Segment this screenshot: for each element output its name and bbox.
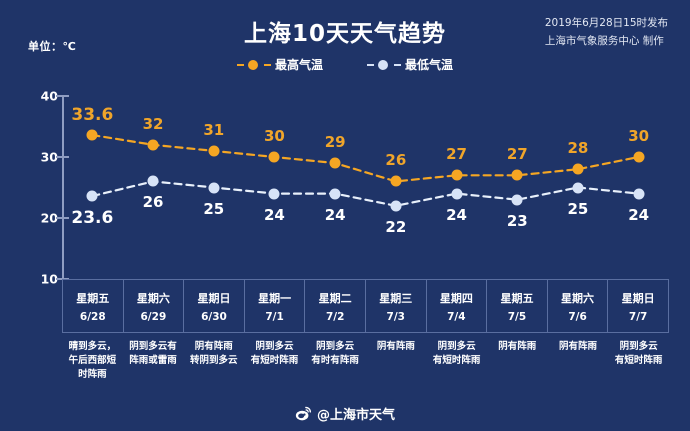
weekday-label: 星期三	[379, 290, 412, 306]
low-temp-value: 24	[446, 206, 467, 224]
weather-description: 阴有阵雨	[366, 340, 427, 382]
low-temp-point	[451, 188, 462, 199]
weather-description-line: 阴有阵雨	[185, 340, 242, 354]
weather-description: 晴到多云，午后西部短时阵雨	[62, 340, 123, 382]
chart-legend: 最高气温 最低气温	[0, 56, 690, 73]
date-label: 7/7	[629, 311, 647, 323]
low-temp-point	[572, 182, 583, 193]
weather-description-line: 阴有阵雨	[550, 340, 607, 354]
dot-marker-icon	[237, 59, 271, 71]
low-temp-value: 25	[568, 200, 589, 218]
weather-description-line: 阴到多云有	[125, 340, 182, 354]
weekday-label: 星期二	[319, 290, 352, 306]
date-label: 7/1	[265, 311, 283, 323]
day-table: 星期五6/28星期六6/29星期日6/30星期一7/1星期二7/2星期三7/3星…	[62, 279, 669, 333]
weather-description-line: 转阴到多云	[185, 354, 242, 368]
weather-description: 阴有阵雨	[548, 340, 609, 382]
date-label: 7/3	[387, 311, 405, 323]
weather-description-line: 有短时阵雨	[246, 354, 303, 368]
high-temp-point	[148, 139, 159, 150]
day-column[interactable]: 星期六6/29	[124, 279, 185, 333]
low-temp-point	[148, 176, 159, 187]
day-column[interactable]: 星期三7/3	[366, 279, 427, 333]
date-label: 6/30	[201, 311, 227, 323]
y-axis-tick-mark	[56, 217, 69, 219]
low-temp-point	[208, 182, 219, 193]
legend-item-high: 最高气温	[237, 56, 323, 73]
high-temp-value: 26	[385, 151, 406, 169]
weather-trend-chart: 单位：℃ 上海10天天气趋势 2019年6月28日15时发布 上海市气象服务中心…	[0, 0, 690, 431]
weather-description-line: 有时有阵雨	[307, 354, 364, 368]
weather-description-line: 阴到多云	[610, 340, 667, 354]
low-temp-point	[87, 191, 98, 202]
high-temp-value: 30	[264, 127, 285, 145]
publish-time: 2019年6月28日15时发布	[545, 14, 668, 32]
low-temp-point	[633, 188, 644, 199]
day-column[interactable]: 星期五7/5	[487, 279, 548, 333]
high-temp-point	[269, 152, 280, 163]
publisher-name: 上海市气象服务中心 制作	[545, 32, 668, 50]
day-column[interactable]: 星期二7/2	[305, 279, 366, 333]
high-temp-point	[208, 145, 219, 156]
weather-description-line: 晴到多云，	[64, 340, 121, 354]
weather-description: 阴有阵雨转阴到多云	[183, 340, 244, 382]
weather-description: 阴到多云有阵雨或雷雨	[123, 340, 184, 382]
weekday-label: 星期六	[137, 290, 170, 306]
weather-description-line: 阵雨或雷雨	[125, 354, 182, 368]
low-temp-line	[92, 181, 638, 205]
low-temp-point	[512, 194, 523, 205]
date-label: 7/6	[568, 311, 586, 323]
weekday-label: 星期一	[258, 290, 291, 306]
weekday-label: 星期日	[197, 290, 230, 306]
low-temp-point	[330, 188, 341, 199]
low-temp-value: 24	[264, 206, 285, 224]
low-temp-point	[390, 200, 401, 211]
weather-description-line: 有短时阵雨	[428, 354, 485, 368]
day-column[interactable]: 星期六7/6	[548, 279, 609, 333]
y-axis-tick-label: 20	[26, 211, 58, 226]
low-temp-value: 22	[385, 218, 406, 236]
high-temp-point	[512, 170, 523, 181]
y-axis-line	[62, 96, 64, 280]
weather-description: 阴到多云有短时阵雨	[426, 340, 487, 382]
date-label: 6/29	[141, 311, 167, 323]
publish-info: 2019年6月28日15时发布 上海市气象服务中心 制作	[545, 14, 668, 50]
high-temp-line	[92, 135, 638, 181]
weekday-label: 星期六	[561, 290, 594, 306]
weibo-handle: @上海市天气	[317, 404, 395, 423]
legend-label-low: 最低气温	[405, 56, 453, 73]
weather-description-line: 阴有阵雨	[368, 340, 425, 354]
day-column[interactable]: 星期一7/1	[245, 279, 306, 333]
weibo-icon	[295, 406, 312, 421]
high-temp-value: 28	[568, 139, 589, 157]
high-temp-value: 27	[507, 145, 528, 163]
low-temp-value: 23.6	[71, 208, 113, 228]
legend-label-high: 最高气温	[275, 56, 323, 73]
high-temp-value: 32	[143, 115, 164, 133]
low-temp-value: 23	[507, 212, 528, 230]
weekday-label: 星期五	[500, 290, 533, 306]
date-label: 6/28	[80, 311, 106, 323]
legend-item-low: 最低气温	[367, 56, 453, 73]
weather-description-line: 阴有阵雨	[489, 340, 546, 354]
high-temp-value: 31	[203, 121, 224, 139]
day-column[interactable]: 星期日7/7	[608, 279, 669, 333]
y-axis-tick-mark	[56, 156, 69, 158]
date-label: 7/4	[447, 311, 465, 323]
high-temp-point	[572, 164, 583, 175]
high-temp-point	[390, 176, 401, 187]
weather-description-line: 阴到多云	[428, 340, 485, 354]
dot-marker-icon	[367, 59, 401, 71]
weather-description-row: 晴到多云，午后西部短时阵雨阴到多云有阵雨或雷雨阴有阵雨转阴到多云阴到多云有短时阵…	[62, 340, 669, 382]
weather-description-line: 阴到多云	[246, 340, 303, 354]
weather-description-line: 有短时阵雨	[610, 354, 667, 368]
low-temp-point	[269, 188, 280, 199]
high-temp-point	[330, 158, 341, 169]
footer-watermark: @上海市天气	[0, 404, 690, 423]
day-column[interactable]: 星期日6/30	[184, 279, 245, 333]
low-temp-value: 25	[203, 200, 224, 218]
high-temp-point	[87, 130, 98, 141]
weather-description: 阴有阵雨	[487, 340, 548, 382]
date-label: 7/2	[326, 311, 344, 323]
weather-description-line: 时阵雨	[64, 368, 121, 382]
weather-description: 阴到多云有短时阵雨	[608, 340, 669, 382]
day-column[interactable]: 星期五6/28	[62, 279, 124, 333]
high-temp-value: 29	[325, 133, 346, 151]
date-label: 7/5	[508, 311, 526, 323]
y-axis-tick-label: 10	[26, 272, 58, 287]
high-temp-point	[633, 152, 644, 163]
weather-description-line: 阴到多云	[307, 340, 364, 354]
high-temp-value: 30	[628, 127, 649, 145]
weekday-label: 星期四	[440, 290, 473, 306]
low-temp-value: 24	[325, 206, 346, 224]
high-temp-value: 33.6	[71, 105, 113, 125]
y-axis-tick-label: 30	[26, 150, 58, 165]
low-temp-value: 24	[628, 206, 649, 224]
weather-description: 阴到多云有短时阵雨	[244, 340, 305, 382]
high-temp-value: 27	[446, 145, 467, 163]
weather-description-line: 午后西部短	[64, 354, 121, 368]
high-temp-point	[451, 170, 462, 181]
day-column[interactable]: 星期四7/4	[427, 279, 488, 333]
weekday-label: 星期五	[76, 290, 109, 306]
weekday-label: 星期日	[622, 290, 655, 306]
weather-description: 阴到多云有时有阵雨	[305, 340, 366, 382]
y-axis-tick-mark	[56, 95, 69, 97]
low-temp-value: 26	[143, 193, 164, 211]
y-axis-tick-label: 40	[26, 89, 58, 104]
